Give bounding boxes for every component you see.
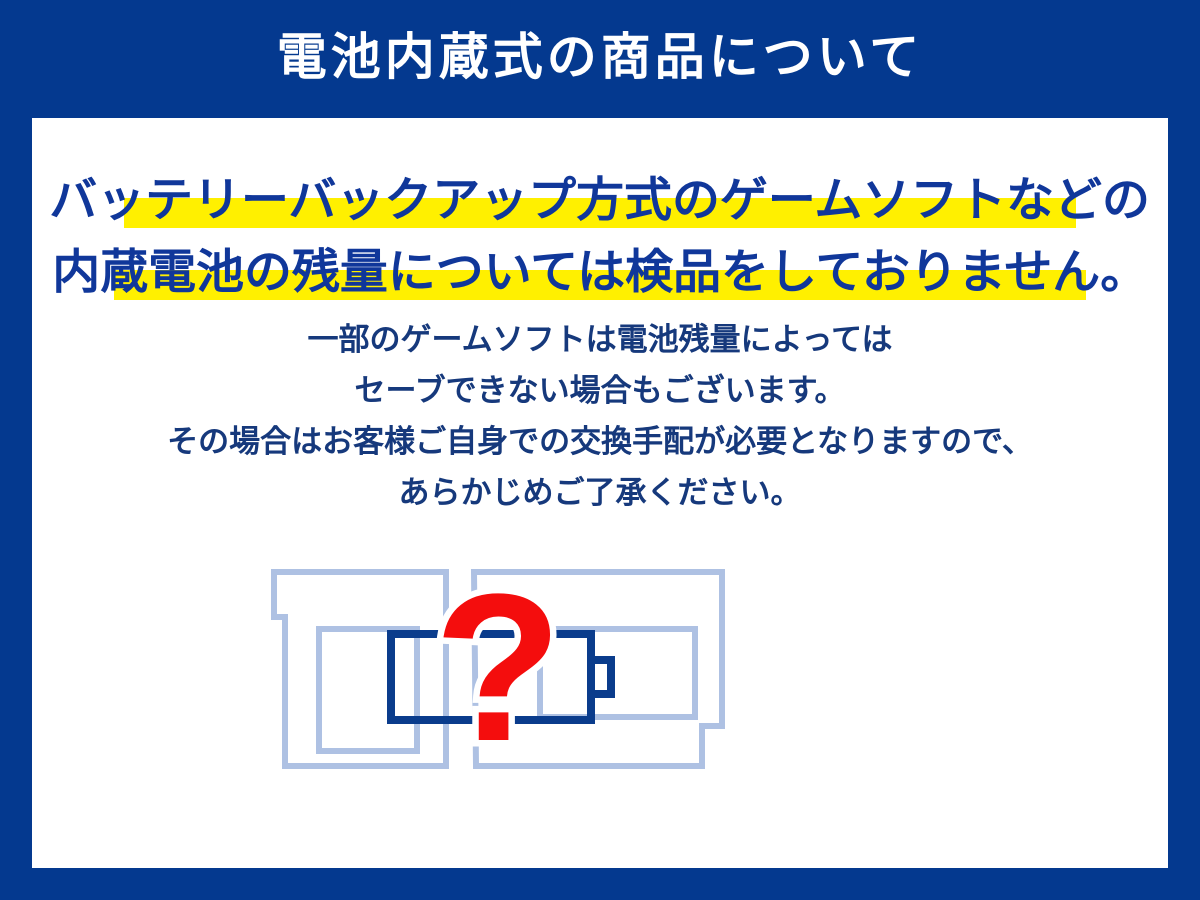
headline-block: バッテリーバックアップ方式のゲームソフトなどの 内蔵電池の残量については検品をし… — [32, 164, 1168, 308]
illustration: ? — [32, 534, 1168, 824]
page-title: 電池内蔵式の商品について — [277, 32, 924, 82]
question-mark-glyph: ? — [434, 550, 562, 785]
body-line-4: あらかじめご了承ください。 — [32, 467, 1168, 518]
content-card: バッテリーバックアップ方式のゲームソフトなどの 内蔵電池の残量については検品をし… — [32, 118, 1168, 868]
illustration-svg: ? — [250, 534, 950, 824]
header-band: 電池内蔵式の商品について — [0, 0, 1200, 118]
cartridge-left-window — [319, 629, 417, 751]
cartridge-right-window — [540, 629, 695, 717]
body-line-2: セーブできない場合もございます。 — [32, 365, 1168, 416]
cartridge-left-body — [274, 572, 446, 766]
question-mark-icon: ? — [434, 550, 562, 785]
headline-line-2-text: 内蔵電池の残量については検品をしておりません。 — [52, 236, 1148, 308]
headline-line-1: バッテリーバックアップ方式のゲームソフトなどの — [32, 164, 1168, 236]
headline-line-2: 内蔵電池の残量については検品をしておりません。 — [32, 236, 1168, 308]
body-paragraph: 一部のゲームソフトは電池残量によっては セーブできない場合もございます。 その場… — [32, 314, 1168, 518]
body-line-1: 一部のゲームソフトは電池残量によっては — [32, 314, 1168, 365]
poster: 電池内蔵式の商品について バッテリーバックアップ方式のゲームソフトなどの 内蔵電… — [0, 0, 1200, 900]
headline-line-1-text: バッテリーバックアップ方式のゲームソフトなどの — [50, 164, 1151, 236]
game-cartridge-left-icon — [274, 572, 446, 766]
body-line-3: その場合はお客様ご自身での交換手配が必要となりますので、 — [32, 416, 1168, 467]
